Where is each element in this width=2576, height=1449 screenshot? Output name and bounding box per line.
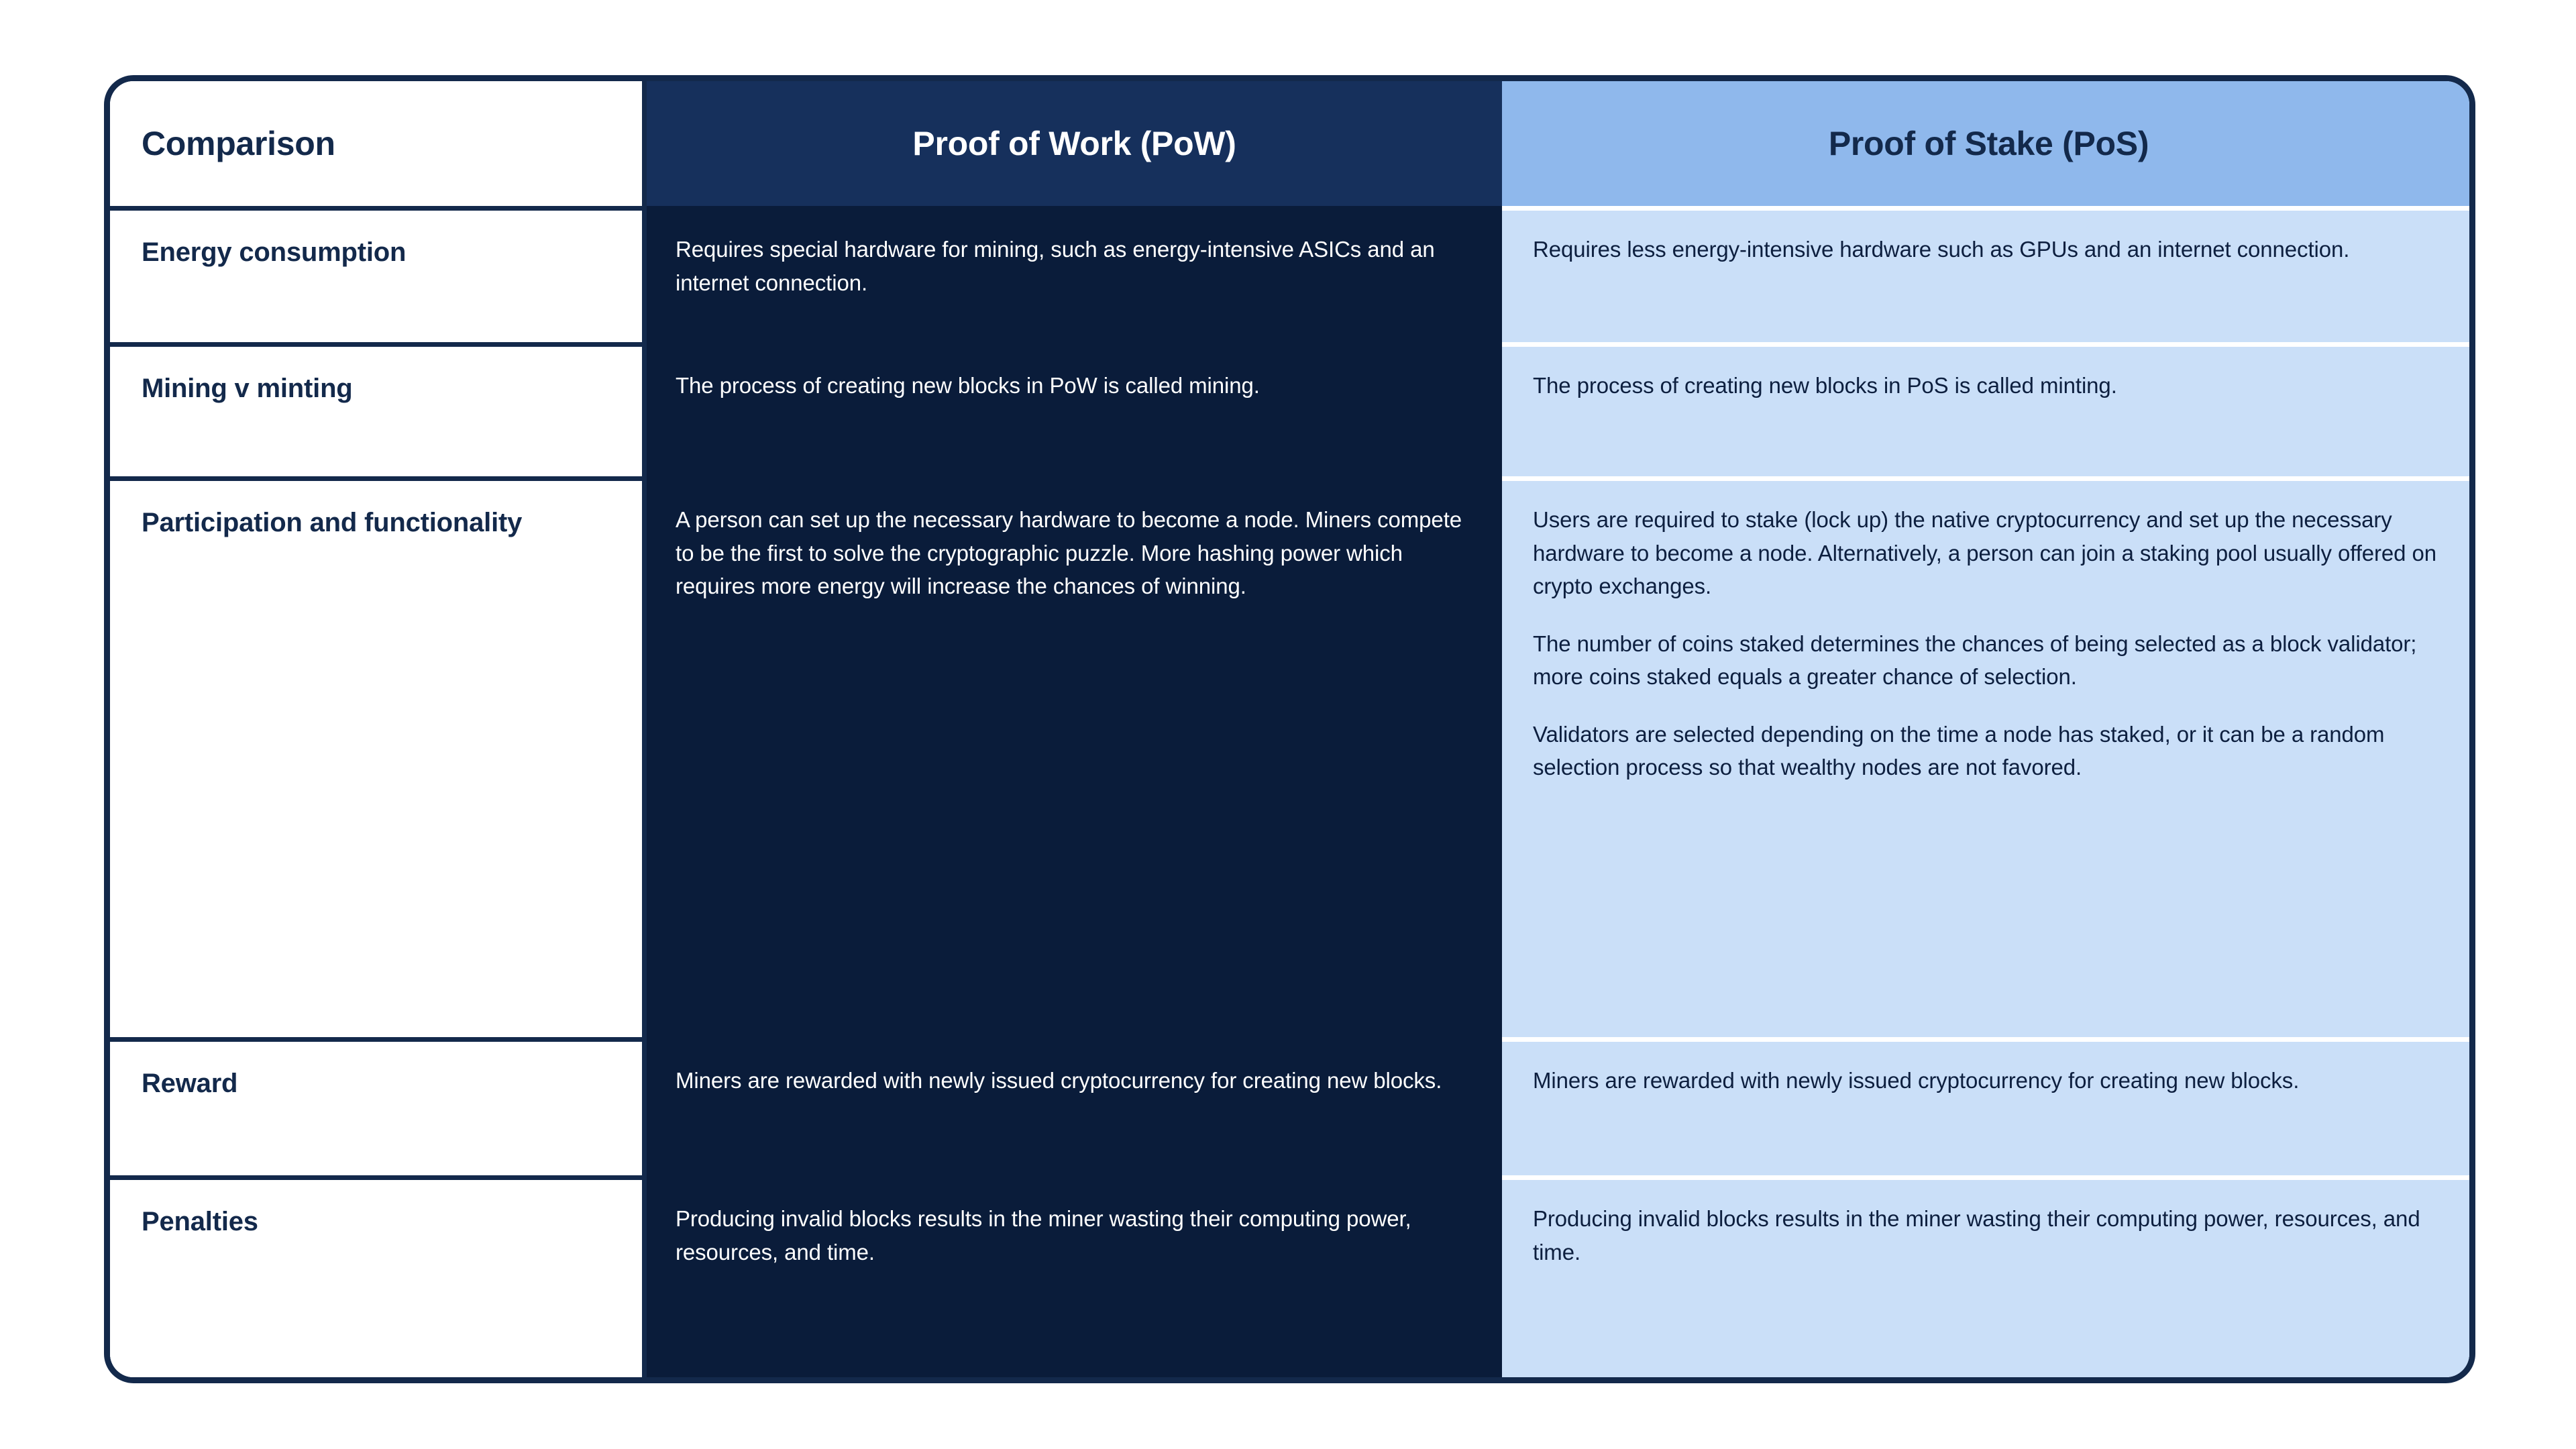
comparison-table: Comparison Energy consumption Mining v m… — [104, 75, 2475, 1383]
cell-paragraph: The process of creating new blocks in Po… — [1533, 369, 2443, 402]
row-label-mining-v-minting: Mining v minting — [110, 347, 647, 481]
cell-paragraph: The number of coins staked determines th… — [1533, 627, 2443, 694]
cell-paragraph: Miners are rewarded with newly issued cr… — [676, 1064, 1470, 1097]
cell-pow-mining-v-minting: The process of creating new blocks in Po… — [647, 347, 1502, 481]
cell-paragraph: Requires special hardware for mining, su… — [676, 233, 1470, 299]
column-proof-of-work: Proof of Work (PoW) Requires special har… — [647, 81, 1502, 1383]
column-header-proof-of-work: Proof of Work (PoW) — [647, 81, 1502, 211]
page-root: Comparison Energy consumption Mining v m… — [0, 0, 2576, 1449]
cell-pow-participation-and-functionality: A person can set up the necessary hardwa… — [647, 481, 1502, 1042]
row-label-penalties: Penalties — [110, 1180, 647, 1383]
cell-paragraph: Producing invalid blocks results in the … — [676, 1202, 1470, 1269]
row-label-text: Reward — [142, 1066, 615, 1101]
row-label-energy-consumption: Energy consumption — [110, 211, 647, 347]
column-proof-of-stake: Proof of Stake (PoS) Requires less energ… — [1502, 81, 2475, 1383]
cell-paragraph: Producing invalid blocks results in the … — [1533, 1202, 2443, 1269]
column-comparison: Comparison Energy consumption Mining v m… — [110, 81, 647, 1383]
cell-paragraph: Requires less energy-intensive hardware … — [1533, 233, 2443, 266]
cell-pow-energy-consumption: Requires special hardware for mining, su… — [647, 211, 1502, 347]
cell-pow-penalties: Producing invalid blocks results in the … — [647, 1180, 1502, 1383]
column-header-comparison: Comparison — [110, 81, 647, 211]
column-header-proof-of-stake: Proof of Stake (PoS) — [1502, 81, 2475, 211]
cell-pos-mining-v-minting: The process of creating new blocks in Po… — [1502, 347, 2475, 481]
row-label-reward: Reward — [110, 1042, 647, 1180]
row-label-text: Energy consumption — [142, 235, 615, 270]
column-header-proof-of-work-label: Proof of Work (PoW) — [912, 124, 1236, 163]
cell-pos-reward: Miners are rewarded with newly issued cr… — [1502, 1042, 2475, 1180]
column-header-comparison-label: Comparison — [142, 124, 335, 163]
cell-paragraph: Users are required to stake (lock up) th… — [1533, 503, 2443, 603]
row-label-text: Penalties — [142, 1204, 615, 1239]
table-grid: Comparison Energy consumption Mining v m… — [110, 81, 2469, 1377]
row-label-text: Participation and functionality — [142, 505, 615, 540]
column-header-proof-of-stake-label: Proof of Stake (PoS) — [1829, 124, 2149, 163]
cell-paragraph: Miners are rewarded with newly issued cr… — [1533, 1064, 2443, 1097]
row-label-participation-and-functionality: Participation and functionality — [110, 481, 647, 1042]
cell-paragraph: The process of creating new blocks in Po… — [676, 369, 1470, 402]
cell-paragraph: A person can set up the necessary hardwa… — [676, 503, 1470, 603]
row-label-text: Mining v minting — [142, 371, 615, 406]
cell-pos-participation-and-functionality: Users are required to stake (lock up) th… — [1502, 481, 2475, 1042]
cell-paragraph: Validators are selected depending on the… — [1533, 718, 2443, 784]
cell-pow-reward: Miners are rewarded with newly issued cr… — [647, 1042, 1502, 1180]
cell-pos-penalties: Producing invalid blocks results in the … — [1502, 1180, 2475, 1383]
cell-pos-energy-consumption: Requires less energy-intensive hardware … — [1502, 211, 2475, 347]
